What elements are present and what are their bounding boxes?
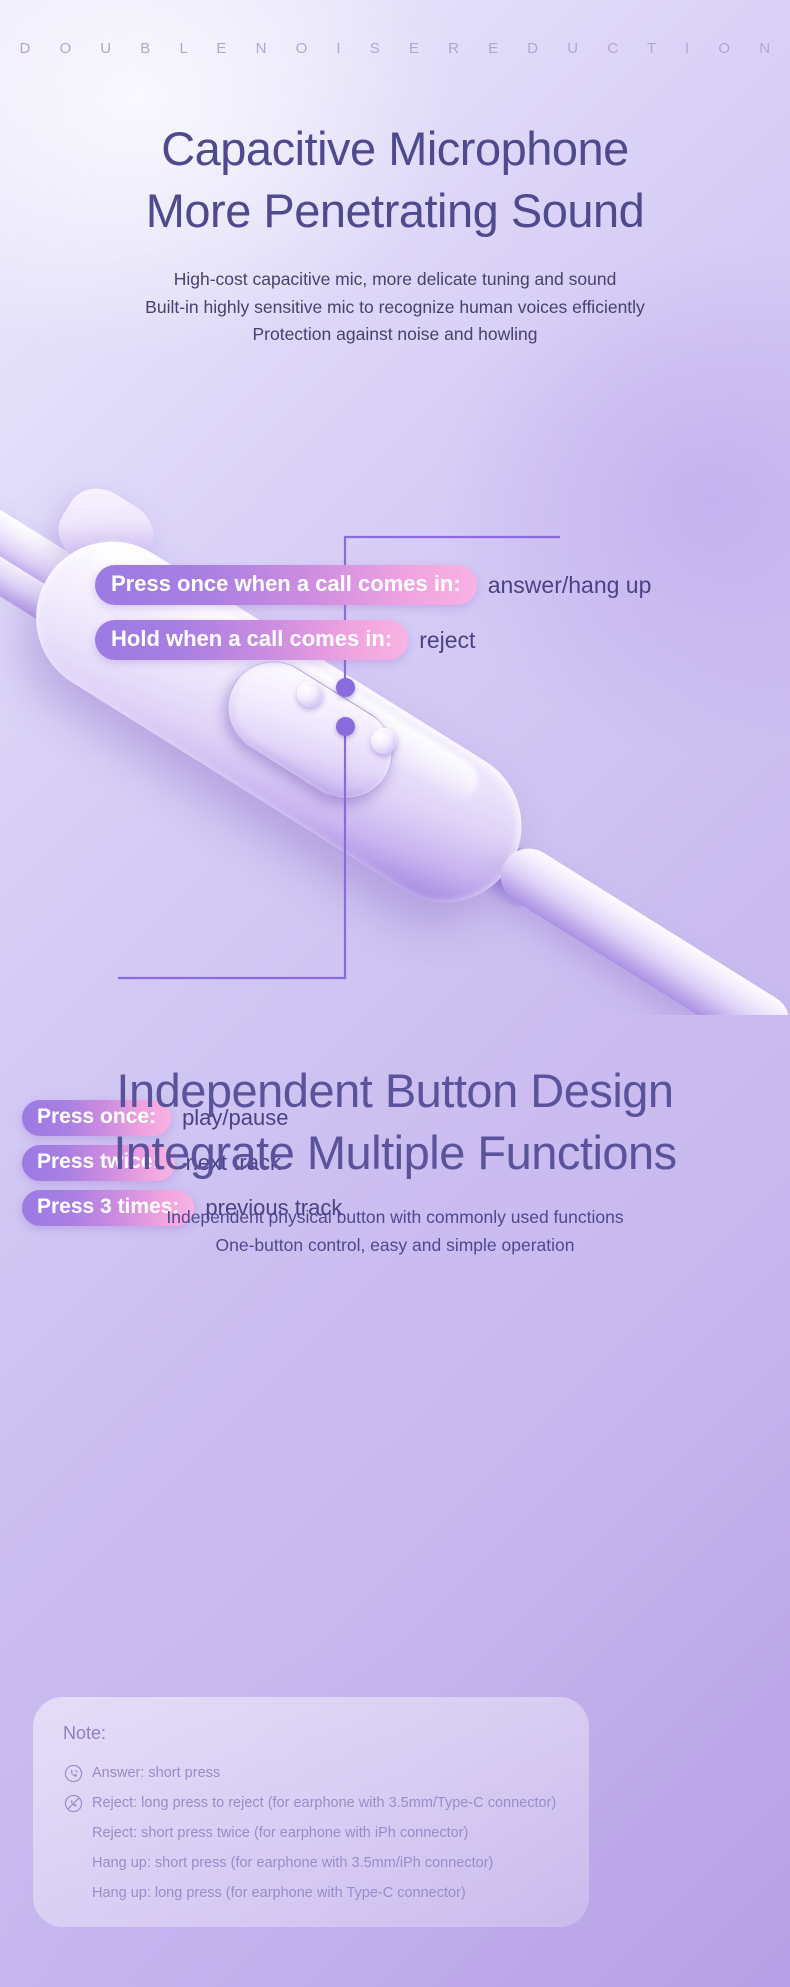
mic-subcopy-line2: Built-in highly sensitive mic to recogni… (0, 294, 790, 322)
note-line-hangup-short: Hang up: short press (for earphone with … (63, 1848, 559, 1878)
product-infographic-page: D O U B L E N O I S E R E D U C T I O N … (0, 0, 790, 1987)
note-text-hangup-long: Hang up: long press (for earphone with T… (92, 1883, 466, 1903)
note-text-hangup-short: Hang up: short press (for earphone with … (92, 1853, 493, 1873)
eyebrow-text: D O U B L E N O I S E R E D U C T I O N (0, 40, 790, 57)
note-line-reject-long: Reject: long press to reject (for earpho… (63, 1788, 559, 1818)
mic-headline-line2: More Penetrating Sound (0, 180, 790, 242)
phone-reject-icon (63, 1793, 83, 1813)
earphone-cable-lower (490, 838, 790, 1015)
button-subcopy-line1: Independent physical button with commonl… (0, 1204, 790, 1232)
note-text-reject-long: Reject: long press to reject (for earpho… (92, 1793, 556, 1813)
label-row-call-hold: Hold when a call comes in: reject (95, 620, 475, 660)
label-row-call-press-once: Press once when a call comes in: answer/… (95, 565, 651, 605)
pill-call-press-once: Press once when a call comes in: (95, 565, 477, 605)
mic-subcopy-line1: High-cost capacitive mic, more delicate … (0, 266, 790, 294)
mic-headline-line1: Capacitive Microphone (0, 118, 790, 180)
button-subcopy: Independent physical button with commonl… (0, 1204, 790, 1259)
button-section-heading-block: Independent Button Design Integrate Mult… (0, 1060, 790, 1259)
phone-answer-icon (63, 1763, 83, 1783)
mic-section-heading-block: Capacitive Microphone More Penetrating S… (0, 118, 790, 349)
callout-marker-upper (336, 678, 355, 697)
value-call-hold: reject (419, 627, 475, 654)
mic-subcopy-line3: Protection against noise and howling (0, 321, 790, 349)
note-text-answer: Answer: short press (92, 1763, 220, 1783)
note-line-hangup-long: Hang up: long press (for earphone with T… (63, 1878, 559, 1908)
note-panel: Note: Answer: short press Reject: long p… (33, 1697, 589, 1927)
callout-marker-lower (336, 717, 355, 736)
pill-call-hold: Hold when a call comes in: (95, 620, 408, 660)
mic-subcopy: High-cost capacitive mic, more delicate … (0, 266, 790, 349)
button-headline-line2: Integrate Multiple Functions (0, 1122, 790, 1184)
button-subcopy-line2: One-button control, easy and simple oper… (0, 1232, 790, 1260)
note-line-answer: Answer: short press (63, 1758, 559, 1788)
button-bump-lower[interactable] (371, 728, 397, 754)
note-text-reject-twice: Reject: short press twice (for earphone … (92, 1823, 468, 1843)
button-bump-upper[interactable] (297, 681, 323, 707)
note-line-reject-twice: Reject: short press twice (for earphone … (63, 1818, 559, 1848)
button-headline-line1: Independent Button Design (0, 1060, 790, 1122)
value-call-press-once: answer/hang up (488, 572, 652, 599)
note-title: Note: (63, 1723, 559, 1744)
